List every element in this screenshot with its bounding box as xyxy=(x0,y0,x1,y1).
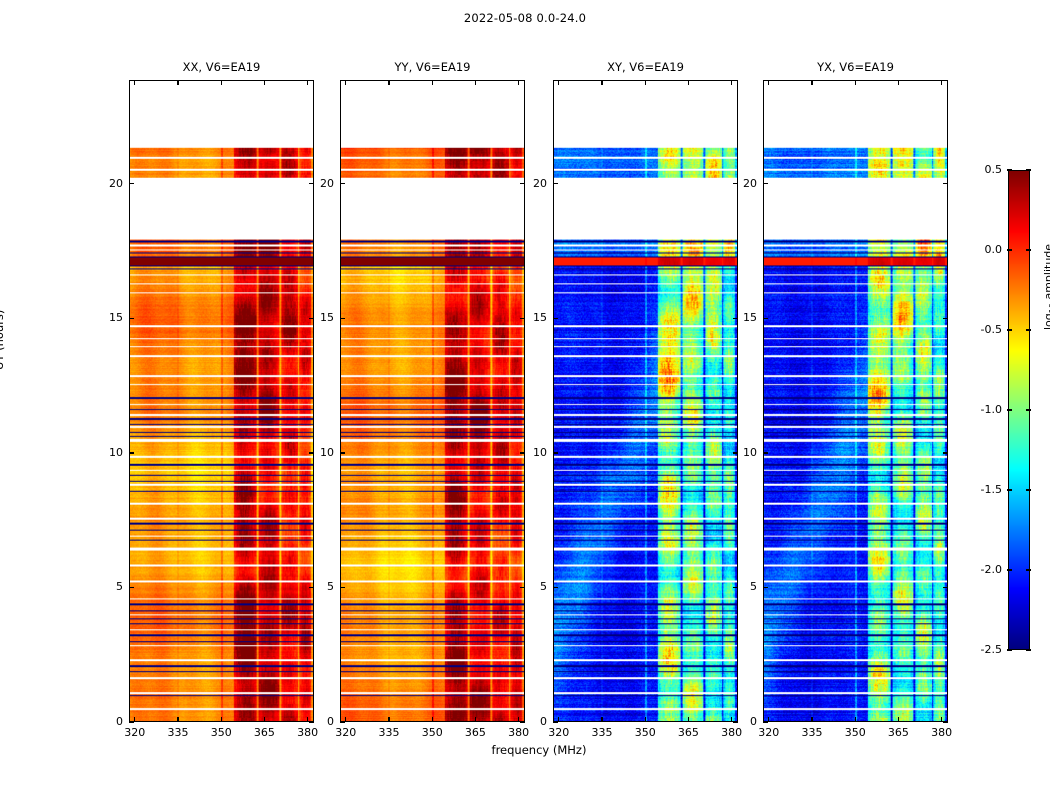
x-tick-3-3 xyxy=(898,717,899,722)
y-tick-1-2 xyxy=(340,452,345,453)
heatmap-image-yy xyxy=(341,81,524,721)
x-tick-2-0 xyxy=(558,717,559,722)
panel-title-yy: YY, V6=EA19 xyxy=(340,60,525,74)
y-tick-label-2-2: 10 xyxy=(513,446,547,459)
x-tick-1-2 xyxy=(432,80,433,85)
colorbar-tick-4 xyxy=(1007,489,1012,490)
y-tick-label-0-3: 15 xyxy=(89,311,123,324)
y-tick-3-3 xyxy=(943,318,948,319)
y-tick-label-0-1: 5 xyxy=(89,580,123,593)
x-tick-1-0 xyxy=(345,717,346,722)
x-tick-3-0 xyxy=(768,717,769,722)
panel-title-yx: YX, V6=EA19 xyxy=(763,60,948,74)
x-tick-label-2-2: 350 xyxy=(628,726,662,739)
x-tick-2-3 xyxy=(688,717,689,722)
x-tick-0-2 xyxy=(221,80,222,85)
y-tick-label-0-4: 20 xyxy=(89,177,123,190)
y-tick-1-1 xyxy=(340,587,345,588)
x-tick-0-1 xyxy=(177,717,178,722)
x-tick-3-4 xyxy=(941,80,942,85)
x-tick-0-1 xyxy=(177,80,178,85)
x-tick-label-0-0: 320 xyxy=(118,726,152,739)
heatmap-panel-xx[interactable] xyxy=(129,80,314,722)
x-tick-3-0 xyxy=(768,80,769,85)
figure-suptitle: 2022-05-08 0.0-24.0 xyxy=(0,11,1050,25)
x-tick-label-3-1: 335 xyxy=(795,726,829,739)
y-axis-label: UT (hours) xyxy=(0,310,6,370)
y-tick-3-2 xyxy=(763,452,768,453)
x-tick-1-3 xyxy=(475,717,476,722)
y-tick-2-4 xyxy=(553,183,558,184)
x-tick-1-2 xyxy=(432,717,433,722)
x-tick-2-2 xyxy=(645,80,646,85)
colorbar-tick-2 xyxy=(1026,329,1031,330)
x-tick-label-2-3: 365 xyxy=(671,726,705,739)
colorbar-tick-3 xyxy=(1007,409,1012,410)
y-tick-1-4 xyxy=(340,183,345,184)
y-tick-3-1 xyxy=(763,587,768,588)
y-tick-label-3-4: 20 xyxy=(723,177,757,190)
x-tick-label-3-2: 350 xyxy=(838,726,872,739)
colorbar-tick-1 xyxy=(1007,249,1012,250)
y-tick-label-3-2: 10 xyxy=(723,446,757,459)
colorbar-tick-5 xyxy=(1007,569,1012,570)
colorbar-tick-label-1: 0.0 xyxy=(968,243,1002,256)
x-tick-2-3 xyxy=(688,80,689,85)
x-tick-2-2 xyxy=(645,717,646,722)
heatmap-image-yx xyxy=(764,81,947,721)
x-tick-label-2-1: 335 xyxy=(585,726,619,739)
heatmap-image-xx xyxy=(130,81,313,721)
colorbar-tick-label-0: 0.5 xyxy=(968,163,1002,176)
y-tick-label-1-4: 20 xyxy=(300,177,334,190)
x-tick-label-1-2: 350 xyxy=(415,726,449,739)
heatmap-panel-xy[interactable] xyxy=(553,80,738,722)
colorbar-tick-6 xyxy=(1026,649,1031,650)
x-tick-0-4 xyxy=(307,80,308,85)
y-tick-label-3-1: 5 xyxy=(723,580,757,593)
x-tick-3-4 xyxy=(941,717,942,722)
colorbar-tick-0 xyxy=(1026,169,1031,170)
x-tick-0-2 xyxy=(221,717,222,722)
x-tick-label-3-0: 320 xyxy=(752,726,786,739)
colorbar-tick-label-4: -1.5 xyxy=(968,483,1002,496)
y-tick-label-2-4: 20 xyxy=(513,177,547,190)
y-tick-3-0 xyxy=(943,721,948,722)
y-tick-2-3 xyxy=(553,318,558,319)
x-tick-label-0-3: 365 xyxy=(247,726,281,739)
colorbar-tick-label-3: -1.0 xyxy=(968,403,1002,416)
x-tick-label-0-2: 350 xyxy=(204,726,238,739)
colorbar-tick-2 xyxy=(1007,329,1012,330)
x-tick-2-1 xyxy=(601,80,602,85)
colorbar-label-prefix: log xyxy=(1042,313,1050,330)
y-tick-label-1-2: 10 xyxy=(300,446,334,459)
y-tick-2-1 xyxy=(553,587,558,588)
colorbar-tick-3 xyxy=(1026,409,1031,410)
x-tick-3-2 xyxy=(855,80,856,85)
y-tick-label-2-3: 15 xyxy=(513,311,547,324)
y-tick-label-0-2: 10 xyxy=(89,446,123,459)
x-tick-label-0-1: 335 xyxy=(161,726,195,739)
colorbar-tick-0 xyxy=(1007,169,1012,170)
x-tick-0-3 xyxy=(264,717,265,722)
colorbar-tick-label-5: -2.0 xyxy=(968,563,1002,576)
y-tick-3-2 xyxy=(943,452,948,453)
y-tick-0-4 xyxy=(129,183,134,184)
x-tick-2-4 xyxy=(731,80,732,85)
y-tick-label-1-1: 5 xyxy=(300,580,334,593)
x-tick-1-0 xyxy=(345,80,346,85)
figure-canvas: 2022-05-08 0.0-24.0 XX, V6=EA19 YY, V6=E… xyxy=(0,0,1050,800)
x-tick-3-2 xyxy=(855,717,856,722)
y-tick-3-4 xyxy=(763,183,768,184)
y-tick-label-3-3: 15 xyxy=(723,311,757,324)
panel-title-xx: XX, V6=EA19 xyxy=(129,60,314,74)
x-tick-0-0 xyxy=(134,80,135,85)
colorbar-tick-1 xyxy=(1026,249,1031,250)
x-tick-1-3 xyxy=(475,80,476,85)
colorbar-label: log10 amplitude xyxy=(1042,244,1050,330)
x-tick-0-0 xyxy=(134,717,135,722)
y-tick-label-1-3: 15 xyxy=(300,311,334,324)
x-tick-2-1 xyxy=(601,717,602,722)
y-tick-0-3 xyxy=(129,318,134,319)
x-tick-label-2-0: 320 xyxy=(542,726,576,739)
y-tick-3-1 xyxy=(943,587,948,588)
x-tick-label-1-3: 365 xyxy=(458,726,492,739)
colorbar-tick-label-6: -2.5 xyxy=(968,643,1002,656)
heatmap-panel-yy[interactable] xyxy=(340,80,525,722)
y-tick-3-3 xyxy=(763,318,768,319)
x-tick-label-1-1: 335 xyxy=(372,726,406,739)
x-tick-1-4 xyxy=(518,80,519,85)
x-tick-3-1 xyxy=(811,717,812,722)
heatmap-panel-yx[interactable] xyxy=(763,80,948,722)
x-tick-0-3 xyxy=(264,80,265,85)
x-axis-label: frequency (MHz) xyxy=(340,743,738,757)
x-tick-2-0 xyxy=(558,80,559,85)
panel-title-xy: XY, V6=EA19 xyxy=(553,60,738,74)
heatmap-image-xy xyxy=(554,81,737,721)
x-tick-1-1 xyxy=(388,717,389,722)
x-tick-3-1 xyxy=(811,80,812,85)
x-tick-label-3-3: 365 xyxy=(881,726,915,739)
x-tick-1-1 xyxy=(388,80,389,85)
y-tick-label-2-1: 5 xyxy=(513,580,547,593)
colorbar-tick-6 xyxy=(1007,649,1012,650)
y-tick-1-3 xyxy=(340,318,345,319)
colorbar-tick-label-2: -0.5 xyxy=(968,323,1002,336)
x-tick-label-1-0: 320 xyxy=(329,726,363,739)
x-tick-3-3 xyxy=(898,80,899,85)
y-tick-2-2 xyxy=(553,452,558,453)
colorbar-tick-4 xyxy=(1026,489,1031,490)
x-tick-label-3-4: 380 xyxy=(925,726,959,739)
y-tick-0-2 xyxy=(129,452,134,453)
y-tick-0-1 xyxy=(129,587,134,588)
colorbar-tick-5 xyxy=(1026,569,1031,570)
colorbar-label-suffix: amplitude xyxy=(1042,244,1050,303)
y-tick-3-4 xyxy=(943,183,948,184)
